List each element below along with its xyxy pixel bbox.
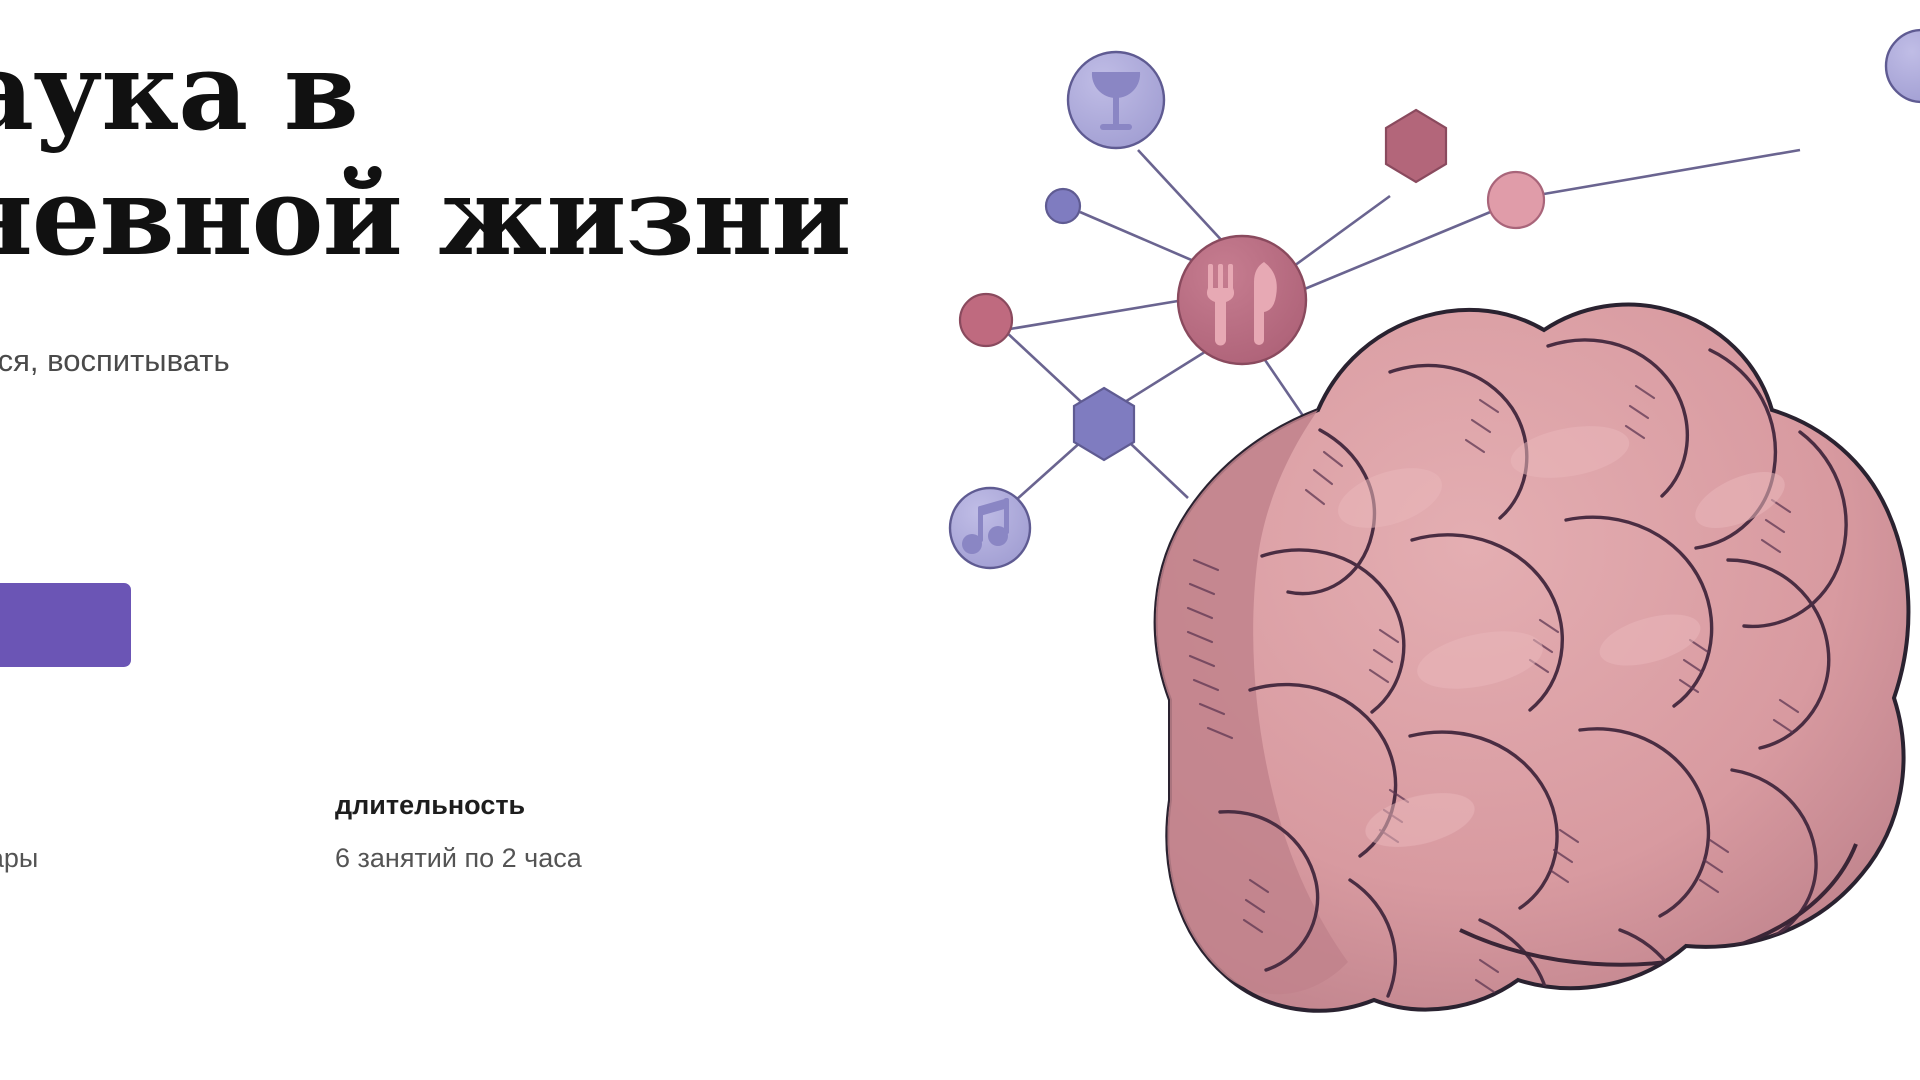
- node-link-group: [1004, 150, 1800, 500]
- link-cutlery-to-pinkdot: [1278, 208, 1500, 300]
- dot-icon: [1046, 189, 1080, 223]
- link-dot-to-cutlery: [1080, 212, 1210, 268]
- purple-hex-node: [1074, 388, 1134, 460]
- page-title-line-2: едневной жизни: [0, 155, 1015, 280]
- link-pinkdot-to-edge: [1532, 150, 1800, 196]
- dot-icon: [1488, 172, 1544, 228]
- page-title-line-1: онаука в: [0, 30, 1015, 155]
- wine-glass-icon: [1092, 72, 1140, 130]
- hero-copy-block: онаука в едневной жизни ет нам учиться, …: [0, 30, 1015, 433]
- hero-subtitle-line-1: ет нам учиться, воспитывать: [0, 337, 1015, 385]
- fact-duration-label: длительность: [335, 790, 665, 821]
- course-facts: формат онлайн-вебинары длительность 6 за…: [0, 790, 665, 874]
- edge-cutoff-node: [1886, 30, 1920, 102]
- wine-glass-node: [1068, 52, 1164, 148]
- music-note-icon: [962, 498, 1009, 554]
- hexagon-icon: [1074, 388, 1134, 460]
- link-hex-to-cutlery: [1096, 330, 1240, 420]
- fork-knife-icon: [1207, 262, 1277, 346]
- fact-format-value: онлайн-вебинары: [0, 843, 145, 874]
- rose-hex-node: [1386, 110, 1446, 182]
- hero-subtitle-line-2: стливыми: [0, 385, 1015, 433]
- pink-dot-node: [1488, 172, 1544, 228]
- enroll-cta-button[interactable]: ие: [0, 583, 131, 667]
- hero-illustration: [920, 0, 1920, 1080]
- link-hex-to-music: [1016, 432, 1092, 500]
- page-title: онаука в едневной жизни: [0, 30, 1015, 281]
- fact-format: формат онлайн-вебинары: [0, 790, 145, 874]
- link-hex-to-brain: [1112, 426, 1188, 498]
- hexagon-icon: [1386, 110, 1446, 182]
- cutlery-node: [1178, 236, 1306, 364]
- link-rosedot-to-hex: [1004, 330, 1092, 412]
- hero-subtitle: ет нам учиться, воспитывать стливыми: [0, 337, 1015, 433]
- small-dot-node: [1046, 189, 1080, 223]
- brain-illustration: [1156, 304, 1909, 1028]
- fact-duration-value: 6 занятий по 2 часа: [335, 843, 665, 874]
- music-note-node: [950, 488, 1030, 568]
- fact-duration: длительность 6 занятий по 2 часа: [335, 790, 665, 874]
- link-cutlery-to-rosehex: [1272, 196, 1390, 282]
- fact-format-label: формат: [0, 790, 145, 821]
- link-cutlery-to-brain: [1250, 338, 1340, 470]
- link-wine-to-cutlery: [1138, 150, 1238, 258]
- hero-page: онаука в едневной жизни ет нам учиться, …: [0, 0, 1920, 1080]
- link-rosedot-to-cutlery: [1004, 296, 1208, 330]
